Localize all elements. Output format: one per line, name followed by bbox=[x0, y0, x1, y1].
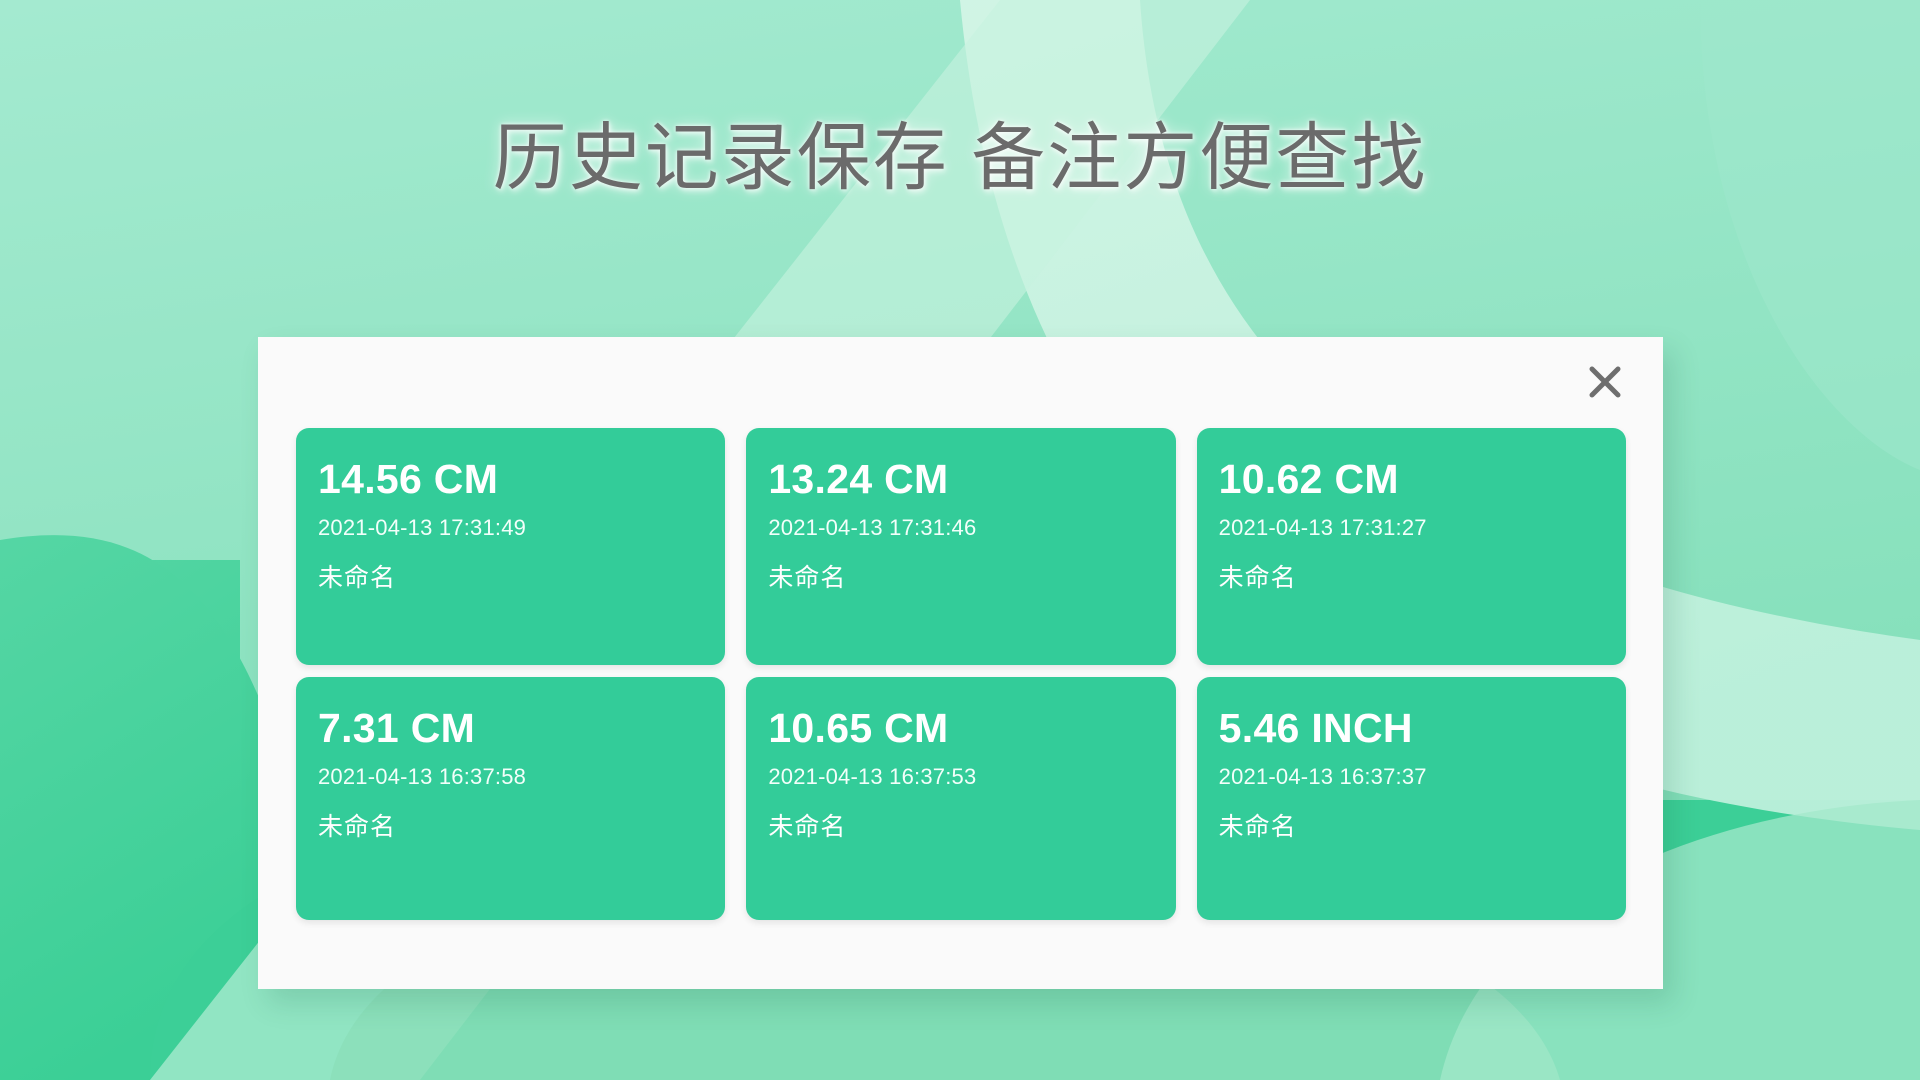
record-note[interactable]: 未命名 bbox=[1219, 807, 1604, 843]
record-card[interactable]: 14.56 CM 2021-04-13 17:31:49 未命名 bbox=[296, 428, 725, 665]
record-note[interactable]: 未命名 bbox=[318, 558, 703, 594]
page-title: 历史记录保存 备注方便查找 bbox=[0, 98, 1920, 205]
record-timestamp: 2021-04-13 16:37:58 bbox=[318, 764, 703, 790]
record-value: 7.31 CM bbox=[318, 707, 703, 750]
record-note[interactable]: 未命名 bbox=[318, 807, 703, 843]
record-timestamp: 2021-04-13 16:37:37 bbox=[1219, 764, 1604, 790]
record-card[interactable]: 7.31 CM 2021-04-13 16:37:58 未命名 bbox=[296, 677, 725, 920]
record-value: 10.62 CM bbox=[1219, 458, 1604, 501]
close-icon[interactable] bbox=[1577, 354, 1633, 410]
record-note[interactable]: 未命名 bbox=[768, 558, 1153, 594]
record-card[interactable]: 10.65 CM 2021-04-13 16:37:53 未命名 bbox=[746, 677, 1175, 920]
record-value: 10.65 CM bbox=[768, 707, 1153, 750]
record-card[interactable]: 10.62 CM 2021-04-13 17:31:27 未命名 bbox=[1197, 428, 1626, 665]
close-icon-glyph bbox=[1585, 362, 1625, 402]
record-value: 13.24 CM bbox=[768, 458, 1153, 501]
record-card[interactable]: 5.46 INCH 2021-04-13 16:37:37 未命名 bbox=[1197, 677, 1626, 920]
record-value: 5.46 INCH bbox=[1219, 707, 1604, 750]
record-note[interactable]: 未命名 bbox=[1219, 558, 1604, 594]
record-timestamp: 2021-04-13 17:31:46 bbox=[768, 515, 1153, 541]
record-value: 14.56 CM bbox=[318, 458, 703, 501]
history-modal: 14.56 CM 2021-04-13 17:31:49 未命名 13.24 C… bbox=[258, 337, 1663, 989]
record-timestamp: 2021-04-13 16:37:53 bbox=[768, 764, 1153, 790]
record-timestamp: 2021-04-13 17:31:27 bbox=[1219, 515, 1604, 541]
record-timestamp: 2021-04-13 17:31:49 bbox=[318, 515, 703, 541]
records-grid: 14.56 CM 2021-04-13 17:31:49 未命名 13.24 C… bbox=[296, 428, 1626, 920]
record-note[interactable]: 未命名 bbox=[768, 807, 1153, 843]
record-card[interactable]: 13.24 CM 2021-04-13 17:31:46 未命名 bbox=[746, 428, 1175, 665]
